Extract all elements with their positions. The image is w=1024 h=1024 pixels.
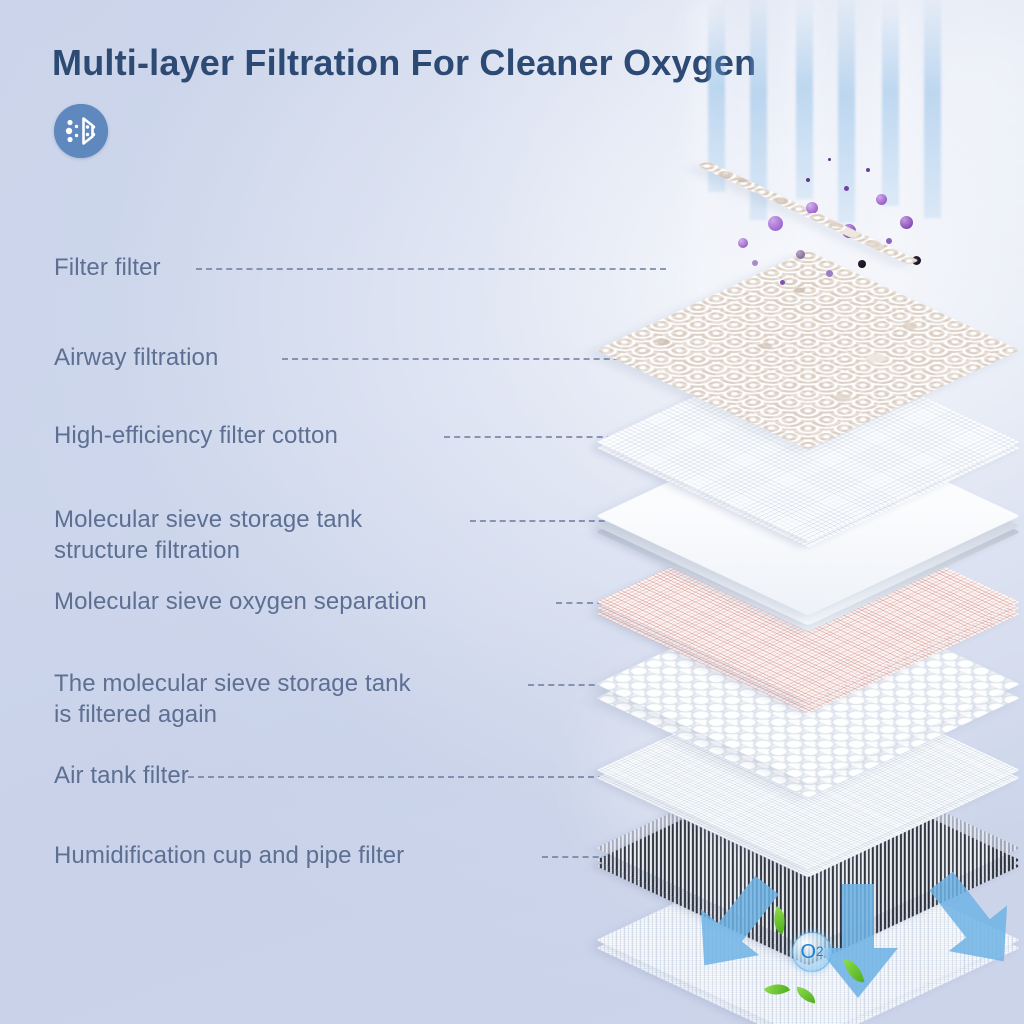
filter-funnel-icon: [54, 104, 108, 158]
layer-label: Molecular sieve oxygen separation: [54, 586, 427, 617]
oxygen-outflow-arrow: [918, 868, 1024, 981]
layer-label: Air tank filter: [54, 760, 189, 791]
illustration-canvas: Multi-layer Filtration For Cleaner Oxyge…: [0, 0, 1024, 1024]
layer-label: The molecular sieve storage tank is filt…: [54, 668, 411, 730]
layer-label: Filter filter: [54, 252, 161, 283]
filtration-layer-stack: N2 N2 N2 O2 O2 O2 O2: [600, 120, 1024, 920]
oxygen-outflow-arrow: [680, 872, 790, 985]
page-title: Multi-layer Filtration For Cleaner Oxyge…: [52, 42, 756, 84]
layer-label: Molecular sieve storage tank structure f…: [54, 504, 362, 566]
layer-label: Humidification cup and pipe filter: [54, 840, 404, 871]
oxygen-bubble: O2: [792, 932, 832, 972]
dust-particles: [600, 120, 1020, 296]
leader-line: [196, 268, 666, 270]
layer-label: High-efficiency filter cotton: [54, 420, 338, 451]
layer-filter-filter: [600, 120, 1020, 296]
layer-label: Airway filtration: [54, 342, 218, 373]
